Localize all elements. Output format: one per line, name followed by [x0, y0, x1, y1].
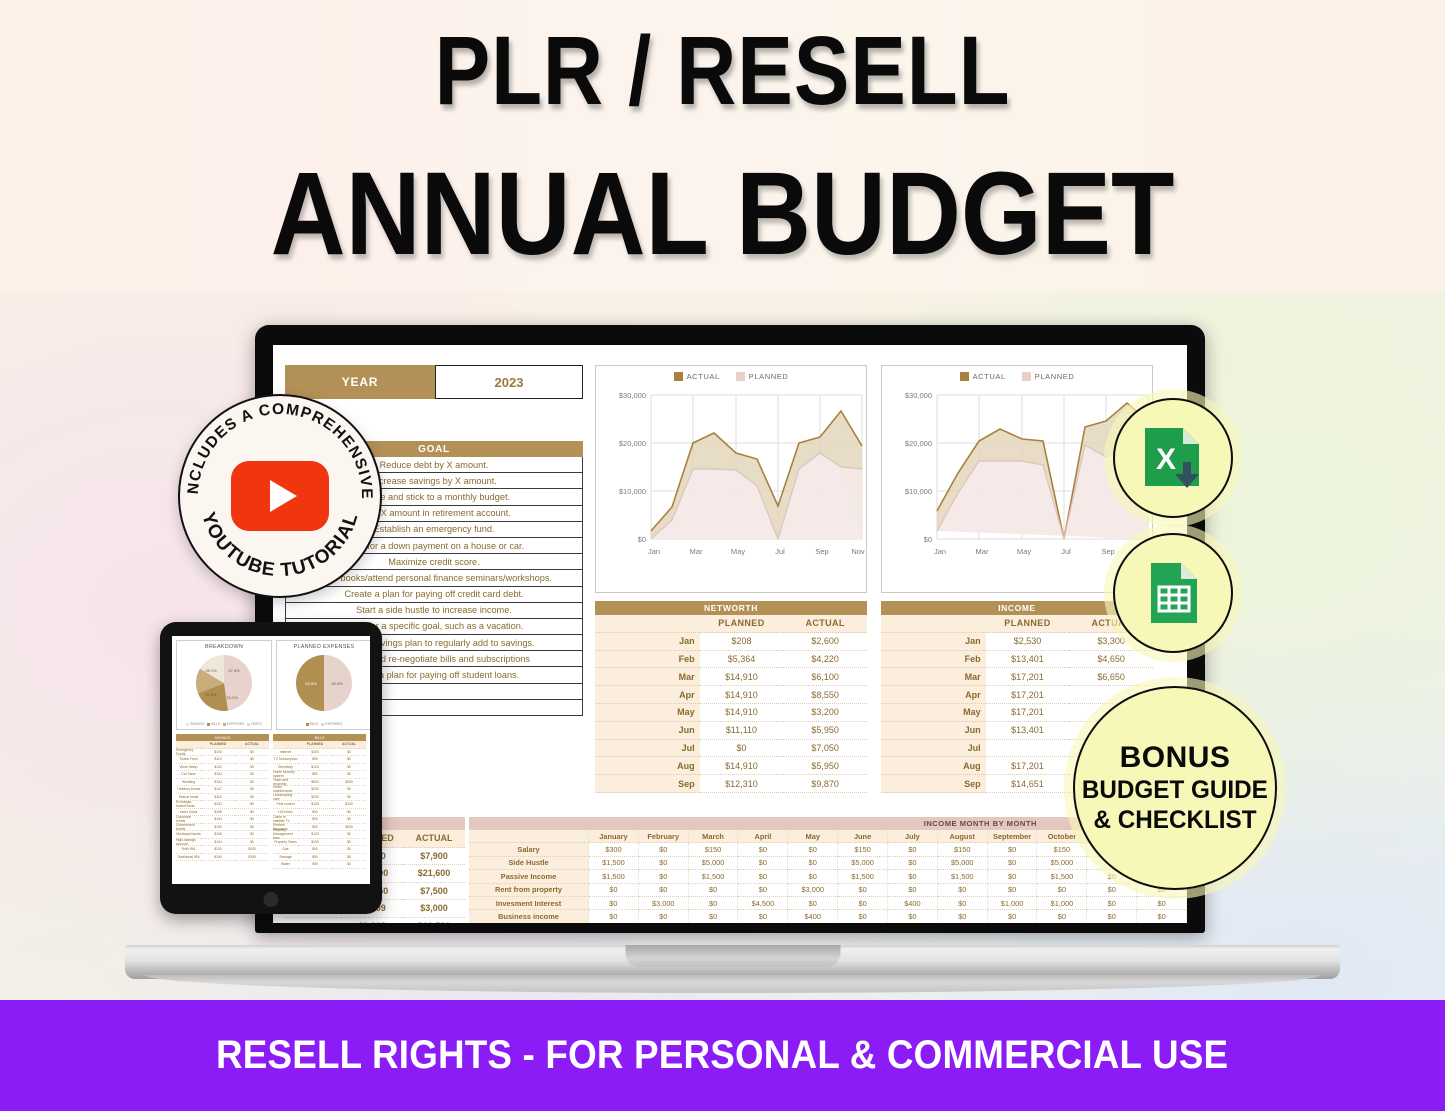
- row-label[interactable]: Treasury bonds: [176, 786, 201, 794]
- savings-grid: PLANNEDACTUALEmergency Funds$100$0Tuitio…: [176, 741, 269, 861]
- table-cell[interactable]: $0: [235, 749, 269, 757]
- table-cell[interactable]: $100: [298, 839, 332, 847]
- column-header: ACTUAL: [235, 741, 269, 749]
- legend-planned-2: PLANNED: [1022, 372, 1075, 381]
- table-cell[interactable]: $7,900: [403, 848, 465, 866]
- row-label[interactable]: Invesment Interest: [469, 897, 589, 910]
- chart-2-svg: $30,000$20,000 $10,000$0 JanMarMay JulSe…: [882, 381, 1154, 581]
- row-label[interactable]: Salary: [469, 843, 589, 856]
- planned-expenses-legend: BILLS EXPENSES: [279, 722, 369, 726]
- table-cell[interactable]: $0: [332, 764, 366, 772]
- table-cell[interactable]: $100: [298, 749, 332, 757]
- excel-file-badge[interactable]: X: [1113, 398, 1233, 518]
- legend-label-planned-2: PLANNED: [1035, 372, 1075, 381]
- table-cell[interactable]: $150: [689, 843, 739, 856]
- table-cell[interactable]: $147: [201, 786, 235, 794]
- table-cell[interactable]: $0: [235, 756, 269, 764]
- table-cell[interactable]: $0: [1037, 910, 1087, 923]
- row-label[interactable]: May: [881, 704, 986, 722]
- column-header: September: [988, 830, 1038, 843]
- laptop-mockup: YEAR 2023 GOAL Reduce debt by X amount.I…: [255, 325, 1205, 950]
- table-cell[interactable]: $190: [235, 854, 269, 862]
- row-label[interactable]: Emergency Funds: [176, 749, 201, 757]
- table-cell[interactable]: $17,201: [986, 668, 1070, 686]
- row-label[interactable]: High-savings account: [176, 839, 201, 847]
- title-line-2: ANNUAL BUDGET: [87, 153, 1359, 277]
- table-cell[interactable]: $150: [1037, 843, 1087, 856]
- svg-text:$10,000: $10,000: [619, 487, 646, 496]
- chart-legend: ACTUAL PLANNED: [596, 366, 866, 381]
- column-header: ACTUAL: [783, 615, 867, 633]
- column-header: April: [738, 830, 788, 843]
- table-cell[interactable]: $0: [332, 846, 366, 854]
- row-label[interactable]: Roth IRA: [176, 846, 201, 854]
- svg-text:22.5%: 22.5%: [205, 692, 217, 697]
- table-cell[interactable]: $0: [988, 857, 1038, 870]
- table-cell[interactable]: $4,220: [783, 651, 867, 669]
- table-cell[interactable]: $0: [738, 870, 788, 883]
- table-cell[interactable]: $14,910: [700, 686, 784, 704]
- legend-swatch-planned: [736, 372, 745, 381]
- swatch-pe-expenses: [321, 723, 324, 726]
- table-cell[interactable]: $0: [1137, 897, 1187, 910]
- table-cell[interactable]: $500: [332, 779, 366, 787]
- table-cell[interactable]: $14,910: [700, 757, 784, 775]
- column-header: January: [589, 830, 639, 843]
- row-label[interactable]: Wedding: [176, 779, 201, 787]
- legend-swatch-actual: [674, 372, 683, 381]
- table-cell[interactable]: $90: [298, 756, 332, 764]
- table-cell[interactable]: $1,500: [689, 870, 739, 883]
- row-label[interactable]: Car Save: [176, 771, 201, 779]
- table-cell[interactable]: $17,201: [986, 757, 1070, 775]
- laptop-screen: YEAR 2023 GOAL Reduce debt by X amount.I…: [273, 345, 1187, 923]
- table-cell[interactable]: $0: [689, 910, 739, 923]
- table-cell[interactable]: $0: [639, 910, 689, 923]
- row-label[interactable]: Gas: [273, 846, 298, 854]
- bonus-line-1: BONUS: [1120, 741, 1231, 776]
- laptop-base-lip: [145, 975, 1320, 993]
- row-label[interactable]: Feb: [595, 651, 700, 669]
- swatch-bills: [207, 723, 210, 726]
- table-cell[interactable]: $0: [938, 910, 988, 923]
- table-cell[interactable]: $0: [888, 857, 938, 870]
- table-cell[interactable]: $0: [235, 771, 269, 779]
- table-cell[interactable]: $150: [201, 824, 235, 832]
- table-cell[interactable]: $0: [700, 740, 784, 758]
- table-cell[interactable]: $0: [332, 749, 366, 757]
- svg-text:46.5%: 46.5%: [331, 681, 343, 686]
- table-cell[interactable]: $0: [1087, 897, 1137, 910]
- table-cell[interactable]: $0: [589, 910, 639, 923]
- table-cell[interactable]: $4,500: [738, 897, 788, 910]
- table-cell[interactable]: $3,200: [783, 704, 867, 722]
- legend-planned: PLANNED: [736, 372, 789, 381]
- youtube-play-icon[interactable]: [231, 461, 329, 531]
- table-cell[interactable]: $1,500: [838, 870, 888, 883]
- svg-text:$20,000: $20,000: [619, 439, 646, 448]
- svg-text:$0: $0: [924, 535, 932, 544]
- table-cell[interactable]: $3,000: [639, 897, 689, 910]
- table-cell[interactable]: $3,000: [788, 884, 838, 897]
- table-cell[interactable]: $0: [689, 897, 739, 910]
- row-label[interactable]: Internet: [273, 749, 298, 757]
- table-cell[interactable]: $0: [1087, 884, 1137, 897]
- income-month-by-month-table: INCOME MONTH BY MONTH JanuaryFebruaryMar…: [469, 817, 1187, 923]
- table-cell[interactable]: $6,100: [783, 668, 867, 686]
- table-cell[interactable]: $0: [788, 857, 838, 870]
- legend-text-savings: SAVINGS: [190, 722, 204, 726]
- table-cell[interactable]: $0: [838, 884, 888, 897]
- table-cell[interactable]: $0: [332, 839, 366, 847]
- table-cell[interactable]: $5,000: [938, 857, 988, 870]
- table-cell[interactable]: $9,868: [341, 918, 403, 924]
- spreadsheet: YEAR 2023 GOAL Reduce debt by X amount.I…: [273, 345, 1187, 923]
- svg-text:53.5%: 53.5%: [305, 681, 317, 686]
- column-header: March: [689, 830, 739, 843]
- svg-text:23.1%: 23.1%: [226, 695, 238, 700]
- svg-text:28.1%: 28.1%: [205, 668, 217, 673]
- table-cell[interactable]: $0: [332, 794, 366, 802]
- table-cell[interactable]: $0: [988, 910, 1038, 923]
- row-label[interactable]: Jul: [595, 740, 700, 758]
- table-cell[interactable]: $102: [201, 764, 235, 772]
- svg-text:Mar: Mar: [976, 547, 989, 556]
- year-value[interactable]: 2023: [435, 365, 583, 399]
- table-cell[interactable]: $150: [938, 843, 988, 856]
- row-label[interactable]: Government bonds: [176, 824, 201, 832]
- chart-1-svg: $30,000$20,000 $10,000$0 JanMarMay JulSe…: [596, 381, 868, 581]
- table-cell[interactable]: $0: [689, 884, 739, 897]
- table-cell[interactable]: $0: [1087, 910, 1137, 923]
- legend-actual: ACTUAL: [674, 372, 720, 381]
- table-cell[interactable]: $0: [332, 816, 366, 824]
- table-cell[interactable]: $0: [235, 816, 269, 824]
- row-label[interactable]: Jan: [595, 633, 700, 651]
- table-cell[interactable]: $0: [589, 884, 639, 897]
- legend-label-planned: PLANNED: [749, 372, 789, 381]
- table-cell[interactable]: $208: [700, 633, 784, 651]
- table-cell[interactable]: $14,910: [700, 704, 784, 722]
- table-cell[interactable]: $1,500: [589, 870, 639, 883]
- table-cell[interactable]: $11,110: [700, 722, 784, 740]
- table-cell[interactable]: $0: [738, 884, 788, 897]
- table-cell[interactable]: $0: [639, 870, 689, 883]
- savings-title: SAVINGS: [176, 734, 269, 741]
- table-cell[interactable]: $0: [888, 910, 938, 923]
- sheet-top-band: [273, 345, 1187, 361]
- legend-pe-bills: BILLS: [306, 722, 319, 726]
- table-cell[interactable]: $5,000: [689, 857, 739, 870]
- legend-text-debts: DEBTS: [251, 722, 262, 726]
- row-label[interactable]: Property Taxes: [273, 839, 298, 847]
- row-label[interactable]: Sewage: [273, 854, 298, 862]
- table-cell[interactable]: $0: [988, 843, 1038, 856]
- table-cell[interactable]: $6,650: [1069, 668, 1153, 686]
- table-cell[interactable]: $21,600: [403, 865, 465, 883]
- bills-grid: PLANNEDACTUALInternet$100$0TV Subscripti…: [273, 741, 366, 869]
- table-cell[interactable]: $0: [332, 786, 366, 794]
- table-cell[interactable]: $4,650: [1069, 651, 1153, 669]
- row-label[interactable]: Jun: [595, 722, 700, 740]
- goal-row[interactable]: Start a side hustle to increase income.: [285, 603, 583, 619]
- table-cell[interactable]: $0: [838, 910, 888, 923]
- column-header: PLANNED: [700, 615, 784, 633]
- table-cell[interactable]: $0: [235, 779, 269, 787]
- table-cell[interactable]: $0: [988, 884, 1038, 897]
- row-label[interactable]: Side Hustle: [469, 857, 589, 870]
- legend-bills: BILLS: [207, 722, 220, 726]
- table-cell[interactable]: $400: [888, 897, 938, 910]
- row-label[interactable]: [285, 918, 341, 924]
- table-cell[interactable]: $0: [235, 809, 269, 817]
- row-label[interactable]: Property Management fees: [273, 831, 298, 839]
- table-cell[interactable]: $0: [332, 756, 366, 764]
- svg-text:Mar: Mar: [690, 547, 703, 556]
- google-sheets-badge[interactable]: [1113, 533, 1233, 653]
- table-cell[interactable]: $1,500: [1037, 870, 1087, 883]
- row-label[interactable]: Jun: [881, 722, 986, 740]
- table-cell[interactable]: $0: [1137, 910, 1187, 923]
- legend-swatch-actual-2: [960, 372, 969, 381]
- table-cell[interactable]: $90: [298, 824, 332, 832]
- table-cell[interactable]: $0: [589, 897, 639, 910]
- table-cell[interactable]: $500: [332, 824, 366, 832]
- table-cell[interactable]: $108: [201, 809, 235, 817]
- table-cell[interactable]: $5,000: [1037, 857, 1087, 870]
- table-cell[interactable]: $5,364: [700, 651, 784, 669]
- table-cell[interactable]: $9,870: [783, 775, 867, 793]
- table-cell[interactable]: $0: [888, 884, 938, 897]
- svg-text:27.3%: 27.3%: [228, 668, 240, 673]
- table-cell[interactable]: $104: [201, 839, 235, 847]
- table-cell[interactable]: $0: [332, 831, 366, 839]
- table-cell[interactable]: $500: [298, 779, 332, 787]
- table-cell[interactable]: $110: [201, 794, 235, 802]
- column-header: ACTUAL: [403, 830, 465, 848]
- table-cell[interactable]: $13,401: [986, 651, 1070, 669]
- table-cell[interactable]: $200: [298, 786, 332, 794]
- row-label[interactable]: Pest control: [273, 801, 298, 809]
- table-cell[interactable]: $105: [201, 831, 235, 839]
- table-cell[interactable]: $5,950: [783, 722, 867, 740]
- table-cell[interactable]: $0: [888, 843, 938, 856]
- tablet-mockup: BREAKDOWN 27.3% 23.1% 22.5% 28.1%: [160, 622, 382, 914]
- swatch-savings: [186, 723, 189, 726]
- row-label[interactable]: Jul: [881, 740, 986, 758]
- row-label[interactable]: Water: [273, 861, 298, 869]
- breakdown-legend: SAVINGS BILLS EXPENSES DEBTS: [179, 722, 269, 726]
- svg-text:Jul: Jul: [1061, 547, 1071, 556]
- table-cell[interactable]: $90: [298, 809, 332, 817]
- table-cell[interactable]: $90: [298, 771, 332, 779]
- tablet-tables: SAVINGS PLANNEDACTUALEmergency Funds$100…: [172, 734, 370, 869]
- table-cell[interactable]: $0: [235, 794, 269, 802]
- page-title: PLR / RESELL ANNUAL BUDGET: [0, 22, 1445, 277]
- table-cell[interactable]: $0: [738, 843, 788, 856]
- svg-text:$30,000: $30,000: [905, 391, 932, 400]
- row-label[interactable]: Business income: [469, 910, 589, 923]
- column-header: July: [888, 830, 938, 843]
- tablet-chart-panels: BREAKDOWN 27.3% 23.1% 22.5% 28.1%: [172, 636, 370, 734]
- planned-expenses-card: PLANNED EXPENSES 46.5% 53.5% BILLS EXPEN…: [276, 640, 370, 730]
- table-cell[interactable]: $120: [201, 846, 235, 854]
- income-chart: ACTUAL PLANNED: [881, 365, 1153, 593]
- table-cell[interactable]: $1,500: [589, 857, 639, 870]
- table-cell[interactable]: $0: [235, 764, 269, 772]
- svg-text:May: May: [1017, 547, 1031, 556]
- table-cell[interactable]: $100: [201, 749, 235, 757]
- row-label[interactable]: Jan: [881, 633, 986, 651]
- swatch-debts: [247, 723, 250, 726]
- column-header: May: [788, 830, 838, 843]
- table-cell[interactable]: $0: [235, 786, 269, 794]
- table-cell[interactable]: $0: [235, 831, 269, 839]
- table-cell[interactable]: $90: [298, 846, 332, 854]
- svg-text:$30,000: $30,000: [619, 391, 646, 400]
- table-cell[interactable]: $0: [738, 910, 788, 923]
- legend-swatch-planned-2: [1022, 372, 1031, 381]
- row-label[interactable]: Landscaping care: [273, 794, 298, 802]
- row-label[interactable]: TV Subscription: [273, 756, 298, 764]
- svg-text:Jul: Jul: [775, 547, 785, 556]
- legend-debts: DEBTS: [247, 722, 262, 726]
- networth-grid: PLANNEDACTUALJan$208$2,600Feb$5,364$4,22…: [595, 615, 867, 793]
- bills-table: BILLS PLANNEDACTUALInternet$100$0TV Subs…: [273, 734, 366, 869]
- row-label[interactable]: Feb: [881, 651, 986, 669]
- table-cell[interactable]: $0: [888, 870, 938, 883]
- table-cell[interactable]: $1,000: [1037, 897, 1087, 910]
- table-cell[interactable]: $0: [738, 857, 788, 870]
- table-cell[interactable]: $0: [235, 839, 269, 847]
- legend-pe-expenses: EXPENSES: [321, 722, 342, 726]
- table-cell[interactable]: $12,310: [700, 775, 784, 793]
- svg-text:Jan: Jan: [934, 547, 946, 556]
- youtube-tutorial-badge[interactable]: INCLUDES A COMPREHENSIVE YOUTUBE TUTORIA…: [178, 394, 382, 598]
- table-cell[interactable]: $14,910: [700, 668, 784, 686]
- table-cell[interactable]: $0: [332, 861, 366, 869]
- row-label[interactable]: Mar: [595, 668, 700, 686]
- table-cell[interactable]: $10,500: [403, 918, 465, 924]
- table-cell[interactable]: $17,201: [986, 704, 1070, 722]
- table-cell[interactable]: $13,401: [986, 722, 1070, 740]
- table-cell[interactable]: $0: [988, 870, 1038, 883]
- table-cell[interactable]: $1,500: [938, 870, 988, 883]
- table-cell[interactable]: $0: [332, 854, 366, 862]
- row-label[interactable]: May: [595, 704, 700, 722]
- svg-text:May: May: [731, 547, 745, 556]
- table-cell[interactable]: $0: [938, 884, 988, 897]
- row-label[interactable]: Passive Income: [469, 870, 589, 883]
- table-cell[interactable]: $90: [298, 854, 332, 862]
- table-cell[interactable]: $90: [298, 816, 332, 824]
- legend-expenses: EXPENSES: [223, 722, 244, 726]
- table-cell[interactable]: $100: [332, 801, 366, 809]
- table-cell[interactable]: $100: [298, 801, 332, 809]
- table-cell[interactable]: $14,651: [986, 775, 1070, 793]
- row-label[interactable]: Sep: [881, 775, 986, 793]
- column-header: [469, 830, 589, 843]
- row-label[interactable]: Apr: [881, 686, 986, 704]
- table-cell[interactable]: $0: [838, 897, 888, 910]
- table-cell[interactable]: $0: [788, 843, 838, 856]
- table-cell[interactable]: $200: [235, 846, 269, 854]
- table-cell[interactable]: $150: [838, 843, 888, 856]
- row-label[interactable]: Rent from property: [469, 884, 589, 897]
- table-cell[interactable]: $104: [201, 816, 235, 824]
- table-cell[interactable]: $0: [235, 824, 269, 832]
- planned-expenses-pie-chart: 46.5% 53.5%: [279, 650, 369, 716]
- table-cell[interactable]: [986, 740, 1070, 758]
- table-cell[interactable]: $2,530: [986, 633, 1070, 651]
- table-cell[interactable]: $1,000: [988, 897, 1038, 910]
- table-cell[interactable]: $104: [201, 779, 235, 787]
- table-cell[interactable]: $5,950: [783, 757, 867, 775]
- table-cell[interactable]: $0: [332, 809, 366, 817]
- google-sheets-icon: [1137, 557, 1209, 629]
- table-cell[interactable]: $200: [298, 794, 332, 802]
- table-cell[interactable]: $120: [298, 831, 332, 839]
- column-header: PLANNED: [201, 741, 235, 749]
- laptop-base-notch: [625, 945, 840, 967]
- table-cell[interactable]: $0: [788, 897, 838, 910]
- table-cell[interactable]: $0: [639, 857, 689, 870]
- row-label[interactable]: Exchange-traded funds: [176, 801, 201, 809]
- bonus-badge[interactable]: BONUS BUDGET GUIDE & CHECKLIST: [1073, 686, 1277, 890]
- table-cell[interactable]: $300: [589, 843, 639, 856]
- table-cell[interactable]: $0: [639, 843, 689, 856]
- table-cell[interactable]: $104: [201, 771, 235, 779]
- table-cell[interactable]: $7,050: [783, 740, 867, 758]
- table-cell[interactable]: $120: [298, 764, 332, 772]
- table-cell[interactable]: $2,600: [783, 633, 867, 651]
- table-cell[interactable]: $3,000: [403, 900, 465, 918]
- column-header: June: [838, 830, 888, 843]
- row-label[interactable]: Work Setup: [176, 764, 201, 772]
- table-cell[interactable]: $5,000: [838, 857, 888, 870]
- table-cell[interactable]: $8,550: [783, 686, 867, 704]
- tablet-home-button[interactable]: [264, 892, 279, 907]
- row-label[interactable]: Aug: [881, 757, 986, 775]
- row-label[interactable]: Aug: [595, 757, 700, 775]
- table-cell[interactable]: $17,201: [986, 686, 1070, 704]
- table-cell[interactable]: $0: [1037, 884, 1087, 897]
- column-header: February: [639, 830, 689, 843]
- column-header: ACTUAL: [332, 741, 366, 749]
- table-cell[interactable]: $0: [788, 870, 838, 883]
- breakdown-pie-chart: 27.3% 23.1% 22.5% 28.1%: [179, 650, 269, 716]
- table-cell[interactable]: $102: [201, 801, 235, 809]
- imbm-grid: JanuaryFebruaryMarchAprilMayJuneJulyAugu…: [469, 830, 1187, 923]
- row-label[interactable]: Traditional IRA: [176, 854, 201, 862]
- row-label[interactable]: Tuition Fees: [176, 756, 201, 764]
- table-cell[interactable]: $0: [639, 884, 689, 897]
- column-header: [881, 615, 986, 633]
- table-cell[interactable]: $7,500: [403, 883, 465, 901]
- table-cell[interactable]: $400: [788, 910, 838, 923]
- table-cell[interactable]: $150: [201, 854, 235, 862]
- table-cell[interactable]: $0: [938, 897, 988, 910]
- column-header: October: [1037, 830, 1087, 843]
- table-cell[interactable]: $90: [298, 861, 332, 869]
- row-label[interactable]: Sep: [595, 775, 700, 793]
- table-cell[interactable]: $110: [201, 756, 235, 764]
- table-cell[interactable]: $0: [235, 801, 269, 809]
- row-label[interactable]: Apr: [595, 686, 700, 704]
- row-label[interactable]: Mar: [881, 668, 986, 686]
- legend-text-pe-expenses: EXPENSES: [325, 722, 342, 726]
- table-cell[interactable]: $0: [332, 771, 366, 779]
